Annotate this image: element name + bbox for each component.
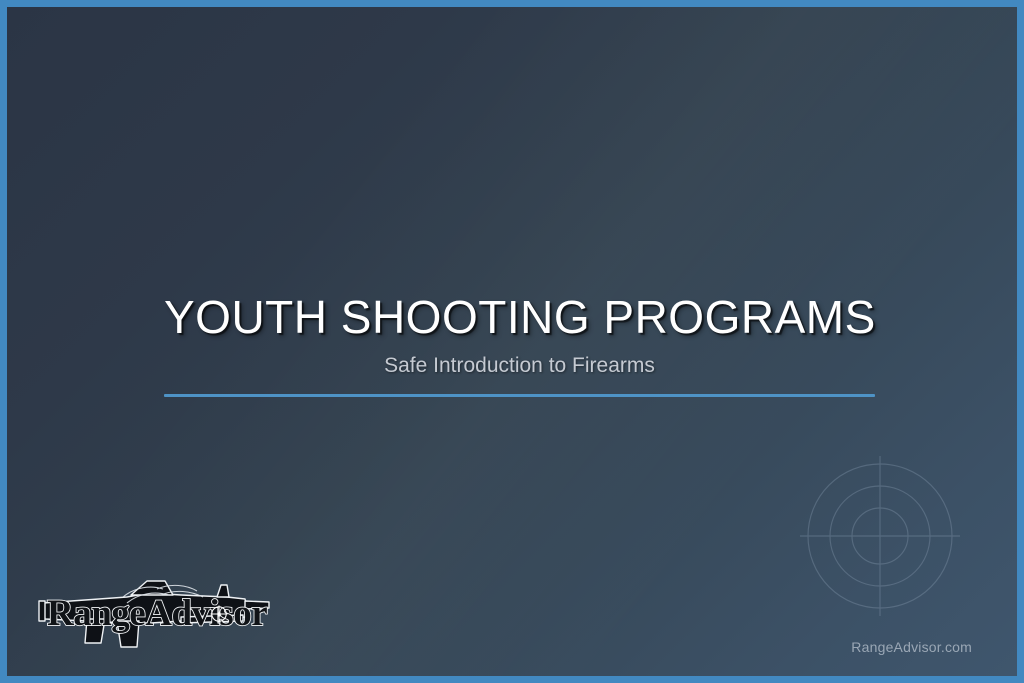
title-block: YOUTH SHOOTING PROGRAMS Safe Introductio… (164, 293, 875, 397)
presentation-slide: YOUTH SHOOTING PROGRAMS Safe Introductio… (0, 0, 1024, 683)
rifle-silhouette-icon: RangeAdvisor (31, 573, 271, 651)
logo-wordmark: RangeAdvisor (47, 593, 267, 634)
footer-url: RangeAdvisor.com (851, 639, 972, 655)
brand-logo: RangeAdvisor (31, 573, 271, 651)
page-subtitle: Safe Introduction to Firearms (164, 354, 875, 378)
title-accent-rule (164, 394, 875, 397)
page-title: YOUTH SHOOTING PROGRAMS (164, 293, 875, 342)
